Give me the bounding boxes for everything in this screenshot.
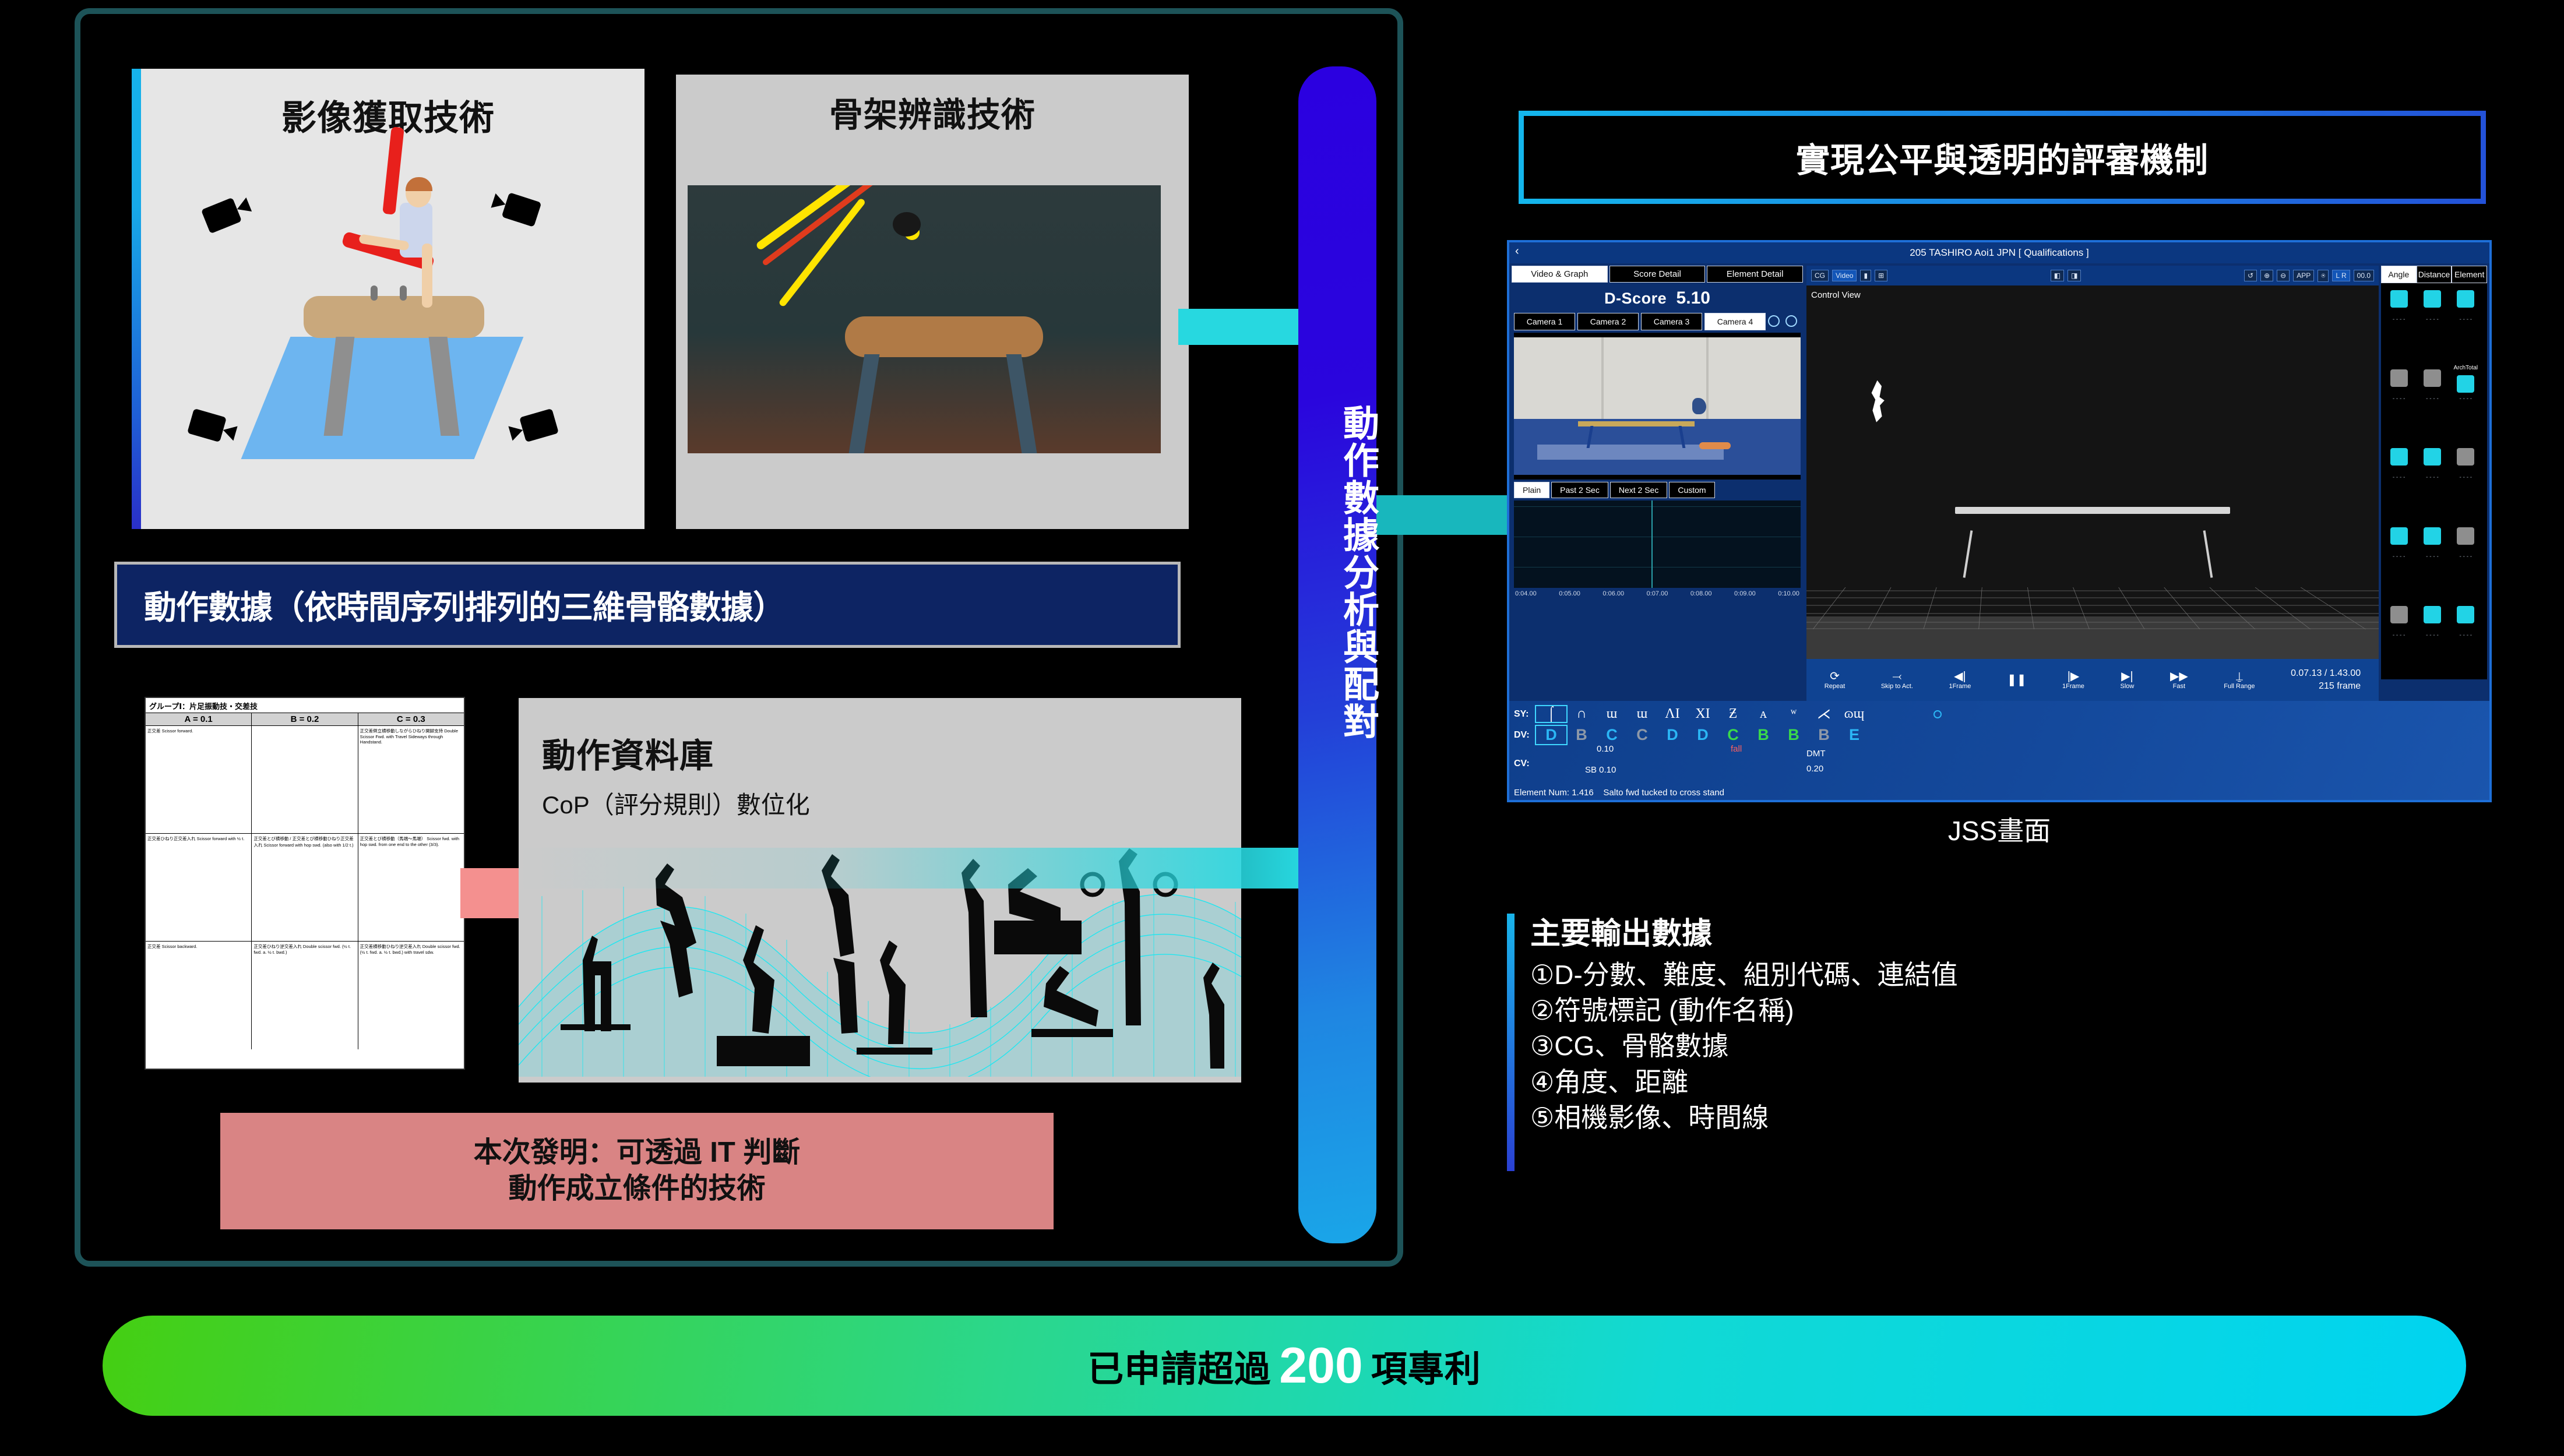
angle-cell[interactable]: - - - - (2417, 445, 2447, 482)
skip-to-act-button[interactable]: ⤙Skip to Act. (1881, 670, 1913, 690)
patent-count-banner: 已申請超過 200 項專利 (103, 1316, 2466, 1416)
timecode-readout: 0.07.13 / 1.43.00 215 frame (2291, 667, 2361, 692)
camera-icon-top-right (502, 192, 542, 227)
camera-icon-bottom-right (519, 408, 559, 442)
sy-label: SY: (1509, 709, 1536, 720)
cop-cell: 正交差とび横移動（馬端～馬端） Scissor fwd. with hop sw… (358, 834, 464, 941)
outputs-accent-bar (1507, 914, 1515, 1171)
reset-rotate-icon[interactable]: ↺ (2244, 270, 2257, 281)
cg-grid (1806, 587, 2379, 629)
arch-total-caption: ArchTotal (2450, 365, 2481, 371)
springboard (1699, 442, 1731, 449)
pommel-horse-photo (845, 316, 1043, 357)
header-pill-text: 實現公平與透明的評審機制 (1796, 133, 2209, 182)
sy-symbol[interactable]: ɷɰ (1839, 706, 1869, 722)
tick: 0:05.00 (1559, 590, 1580, 597)
repeat-button[interactable]: ⟳Repeat (1825, 670, 1845, 690)
angle-cell[interactable]: - - - - (2450, 445, 2481, 482)
d-score-display: D-Score 5.10 (1512, 283, 1803, 313)
cv-bonus: 0.10 (1597, 744, 1614, 754)
cg-beam-leg-right (2203, 531, 2213, 579)
invention-callout-box: 本次發明：可透過 IT 判斷 動作成立條件的技術 (220, 1113, 1054, 1229)
arrow-database-to-pipe (516, 848, 1303, 889)
dv-value[interactable]: B (1566, 726, 1597, 744)
patent-number: 200 (1279, 1337, 1363, 1395)
arrow-pipe-to-jss (1369, 495, 1515, 535)
cop-group-label: グループⅠ：片足振動技・交差技 (146, 698, 464, 713)
symbol-row: SY: ⌠ ∩ ɯ ɯ ɅΙ ΧΙ Ƶ ᴀ ʷ ⋌ ɷɰ (1509, 701, 2489, 722)
cop-cell: 正交差とび横移動 / 正交差とび横移動ひねり正交差入れ Scissor forw… (252, 834, 358, 941)
jss-main-tabs[interactable]: Video & Graph Score Detail Element Detai… (1512, 266, 1803, 283)
gymnast-arm-support (422, 244, 432, 308)
dv-value[interactable]: E (1839, 726, 1869, 744)
output-item: ⑤相機影像、時間線 (1530, 1100, 2381, 1136)
outputs-section: 主要輸出數據 ①D-分數、難度、組別代碼、連結值 ②符號標記 (動作名稱) ③C… (1507, 909, 2381, 1136)
sy-symbol[interactable]: ʷ (1778, 706, 1809, 722)
tab-angle[interactable]: Angle (2381, 266, 2417, 283)
camera-left-icon[interactable]: ◧ (2051, 270, 2064, 281)
cv-dmt-label: DMT (1806, 749, 1826, 759)
gymnast-hair (406, 177, 432, 191)
prev-frame-button[interactable]: ◀|1Frame (1949, 670, 1971, 690)
jss-center-column: CG Video ▮ ⊞ ◧ ◨ ↺ ⊕ ⊖ APP ⍟ L R 00.0 Co… (1806, 266, 2379, 681)
angle-cell-arch-total[interactable]: ArchTotal - - - - (2450, 366, 2481, 403)
tick: 0:10.00 (1778, 590, 1799, 597)
cg-toggle[interactable]: CG (1811, 270, 1829, 281)
cop-rulebook-table: グループⅠ：片足振動技・交差技 A = 0.1 B = 0.2 C = 0.3 … (145, 697, 465, 1070)
angle-cell[interactable]: - - - - (2450, 524, 2481, 561)
dv-value[interactable]: C (1597, 726, 1627, 744)
output-item: ②符號標記 (動作名稱) (1530, 993, 2381, 1028)
dv-value[interactable]: B (1778, 726, 1809, 744)
skeleton-overlay-yellow-2 (778, 198, 866, 308)
output-item: ①D-分數、難度、組別代碼、連結值 (1530, 957, 2381, 993)
next-frame-button[interactable]: |▶1Frame (2062, 670, 2084, 690)
cop-cell: 正交差 Scissor backward. (146, 942, 252, 1049)
arrow-capture-to-pipe (1178, 309, 1306, 345)
jss-right-tabs[interactable]: Angle Distance Element (2381, 266, 2487, 283)
tab-plain[interactable]: Plain (1514, 482, 1549, 498)
cv-dmt-value: 0.20 (1806, 764, 1823, 774)
zoom-in-icon[interactable]: ⊕ (2260, 270, 2273, 281)
cop-col-b: B = 0.2 (252, 713, 358, 725)
cop-cell: 正交差ひねり逆交差入れ Double scissor fwd. (½ t. fw… (252, 942, 358, 1049)
tick: 0:07.00 (1647, 590, 1668, 597)
sy-symbol[interactable]: Ƶ (1718, 706, 1748, 722)
tick: 0:06.00 (1602, 590, 1624, 597)
angle-cell[interactable]: - - - - (2417, 524, 2447, 561)
grid-pane-icon[interactable]: ⊞ (1875, 270, 1887, 281)
camera-tabs[interactable]: Camera 1 Camera 2 Camera 3 Camera 4 (1512, 313, 1803, 330)
gym-wall-seam (1706, 337, 1709, 425)
pause-button[interactable]: ❚❚ (2007, 674, 2027, 686)
sy-symbol[interactable]: ɅΙ (1657, 706, 1688, 722)
cop-cell: 正交差横移動ひねり逆交差入れ Double scissor fwd. (½ t.… (358, 942, 464, 1049)
jss-window-title: 205 TASHIRO Aoi1 JPN [ Qualifications ] (1910, 247, 2088, 259)
gym-mat (1537, 445, 1724, 460)
output-item: ③CG、骨骼數據 (1530, 1028, 2381, 1064)
brightness-down-icon[interactable] (1785, 315, 1797, 327)
tab-distance[interactable]: Distance (2417, 266, 2452, 283)
lr-toggle[interactable]: L R (2332, 270, 2350, 281)
jss-application-window[interactable]: ‹ 205 TASHIRO Aoi1 JPN [ Qualifications … (1507, 240, 2492, 802)
full-range-button[interactable]: ⍊Full Range (2224, 670, 2255, 690)
difficulty-row: DV: D B C C D D C B B B E (1509, 722, 2489, 744)
video-toggle[interactable]: Video (1832, 270, 1857, 281)
playhead-line[interactable] (1651, 500, 1653, 588)
tick: 0:08.00 (1690, 590, 1712, 597)
angle-measurement-grid[interactable]: - - - - - - - - - - - - - - - - - - - - … (2381, 283, 2487, 679)
timecode-value: 0.07.13 / 1.43.00 (2291, 667, 2361, 680)
cop-cell: 正交差 Scissor forward. (146, 726, 252, 833)
output-item: ④角度、距離 (1530, 1064, 2381, 1100)
tab-element[interactable]: Element (2452, 266, 2487, 283)
invention-line-2: 動作成立條件的技術 (508, 1171, 765, 1207)
single-pane-icon[interactable]: ▮ (1860, 270, 1871, 281)
jss-right-column: Angle Distance Element - - - - - - - - -… (2381, 266, 2487, 681)
dv-value[interactable]: B (1809, 726, 1839, 744)
tab-element-detail[interactable]: Element Detail (1707, 266, 1803, 283)
capture-illustration (132, 162, 644, 523)
tab-past-2-sec[interactable]: Past 2 Sec (1551, 482, 1608, 498)
camera-right-icon[interactable]: ◨ (2068, 270, 2081, 281)
dv-value[interactable]: C (1718, 726, 1748, 744)
back-icon[interactable]: ‹ (1515, 245, 1519, 258)
sy-symbol[interactable]: ⋌ (1809, 706, 1839, 722)
sy-symbol[interactable]: ɯ (1627, 706, 1657, 722)
tab-camera-2[interactable]: Camera 2 (1577, 313, 1639, 330)
pipe-label: 動作數據分析與配對 (1298, 404, 1376, 740)
gymnast-figure (324, 174, 470, 308)
jss-control-toolbar[interactable]: CG Video ▮ ⊞ ◧ ◨ ↺ ⊕ ⊖ APP ⍟ L R 00.0 (1806, 266, 2379, 285)
cg-beam-leg-left (1963, 531, 1973, 579)
dv-value[interactable]: D (1657, 726, 1688, 744)
sy-symbol[interactable]: ΧΙ (1688, 706, 1718, 722)
cop-col-c: C = 0.3 (358, 713, 464, 725)
tick: 0:04.00 (1515, 590, 1537, 597)
element-num: Element Num: 1.416 (1514, 788, 1594, 798)
horse-leg-photo-right (1006, 354, 1037, 453)
sy-symbol[interactable]: ɯ (1597, 706, 1627, 722)
cg-athlete-model (1869, 380, 1887, 422)
cv-fall: fall (1731, 744, 1742, 754)
slow-button[interactable]: ▶|Slow (2121, 670, 2135, 690)
zoom-readout: 00.0 (2354, 270, 2374, 281)
d-score-value: 5.10 (1677, 288, 1710, 308)
cop-cell: 正交差ひねり正交差入れ Scissor forward with ½ t. (146, 834, 252, 941)
athlete-in-air (1692, 398, 1706, 414)
cv-label: CV: (1509, 759, 1536, 769)
tick: 0:09.00 (1734, 590, 1756, 597)
element-name: Salto fwd tucked to cross stand (1603, 788, 1724, 798)
athlete-head-photo (893, 212, 921, 237)
gym-wall-seam (1601, 337, 1604, 425)
motion-data-banner: 動作數據（依時間序列排列的三維骨骼數據） (114, 562, 1181, 648)
control-view-3d[interactable]: Control View (1806, 285, 2379, 681)
camera-icon-bottom-left (187, 408, 227, 442)
card-motion-database: 動作資料庫 CoP（評分規則）數位化 (519, 698, 1241, 1083)
skeleton-card-title: 骨架辨識技術 (676, 75, 1189, 136)
tab-custom[interactable]: Custom (1669, 482, 1714, 498)
angle-cell[interactable]: - - - - (2383, 524, 2414, 561)
camera-icon-top-left (201, 198, 242, 234)
d-score-label: D-Score (1604, 290, 1667, 307)
element-info: Element Num: 1.416 Salto fwd tucked to c… (1514, 788, 1724, 798)
angle-cell[interactable]: - - - - (2383, 287, 2414, 324)
dv-value[interactable]: D (1688, 726, 1718, 744)
camera-video-view[interactable] (1514, 333, 1801, 480)
motion-data-banner-text: 動作數據（依時間序列排列的三維骨骼數據） (117, 581, 785, 629)
jss-caption: JSS畫面 (1507, 810, 2492, 848)
header-pill: 實現公平與透明的評審機制 (1519, 111, 2486, 204)
invention-line-1: 本次發明：可透過 IT 判斷 (474, 1135, 801, 1171)
jss-symbol-panel: SY: ⌠ ∩ ɯ ɯ ɅΙ ΧΙ Ƶ ᴀ ʷ ⋌ ɷɰ DV: D B C C… (1509, 701, 2489, 800)
sy-symbol[interactable]: ⌠ (1536, 706, 1566, 722)
app-toggle[interactable]: APP (2293, 270, 2314, 281)
angle-cell[interactable]: - - - - (2417, 287, 2447, 324)
angle-cell[interactable]: - - - - (2383, 366, 2414, 403)
dv-value[interactable]: D (1536, 726, 1566, 744)
cop-cell (252, 726, 358, 833)
control-view-label: Control View (1811, 290, 1861, 300)
body-model-icon[interactable]: ⍟ (2318, 270, 2329, 282)
analysis-pipe: 動作數據分析與配對 (1298, 66, 1376, 1243)
tab-camera-3[interactable]: Camera 3 (1641, 313, 1702, 330)
connection-value-row: CV: 0.10 fall SB 0.10 DMT 0.20 (1509, 744, 2489, 780)
card-skeleton-recognition: 骨架辨識技術 (676, 75, 1189, 529)
dv-value[interactable]: B (1748, 726, 1778, 744)
angle-cell[interactable]: - - - - (2417, 602, 2447, 640)
timeline-ticks: 0:04.00 0:05.00 0:06.00 0:07.00 0:08.00 … (1512, 590, 1803, 597)
cop-col-a: A = 0.1 (146, 713, 252, 725)
jss-left-column: Video & Graph Score Detail Element Detai… (1512, 266, 1803, 681)
tab-next-2-sec[interactable]: Next 2 Sec (1610, 482, 1667, 498)
sy-symbol[interactable]: ᴀ (1748, 706, 1778, 722)
pink-arrow (460, 868, 524, 918)
tab-camera-1[interactable]: Camera 1 (1514, 313, 1575, 330)
angle-cell[interactable]: - - - - (2383, 445, 2414, 482)
card-image-acquisition: 影像獲取技術 (132, 69, 644, 529)
gym-wall (1514, 337, 1801, 425)
frame-count: 215 frame (2291, 680, 2361, 693)
database-title: 動作資料庫 (519, 698, 1241, 777)
angle-cell[interactable]: - - - - (2450, 602, 2481, 640)
patent-prefix: 已申請超過 (1087, 1339, 1271, 1392)
capture-card-title: 影像獲取技術 (132, 69, 644, 140)
cursor-icon (1933, 710, 1942, 718)
tab-score-detail[interactable]: Score Detail (1609, 266, 1706, 283)
angle-cell[interactable]: - - - - (2383, 602, 2414, 640)
zoom-out-icon[interactable]: ⊖ (2277, 270, 2290, 281)
horse-leg-photo-left (849, 354, 880, 453)
balance-beam (1578, 421, 1695, 426)
dv-label: DV: (1509, 730, 1536, 741)
patent-suffix: 項專利 (1371, 1339, 1481, 1392)
cv-sb: SB 0.10 (1585, 765, 1616, 775)
jss-titlebar: ‹ 205 TASHIRO Aoi1 JPN [ Qualifications … (1509, 242, 2489, 263)
cg-balance-beam (1955, 507, 2230, 514)
angle-cell[interactable]: - - - - (2450, 287, 2481, 324)
dv-value[interactable]: C (1627, 726, 1657, 744)
skeleton-video-thumbnail (688, 185, 1161, 453)
outputs-heading: 主要輸出數據 (1530, 909, 2381, 953)
tab-video-graph[interactable]: Video & Graph (1512, 266, 1608, 283)
timeline-graph[interactable] (1514, 500, 1801, 588)
mat-shape (241, 337, 524, 459)
cop-cell: 正交差倒立横移動しながらひねり開脚支持 Double Scissor Fwd. … (358, 726, 464, 833)
graph-tabs[interactable]: Plain Past 2 Sec Next 2 Sec Custom (1512, 482, 1803, 498)
angle-cell[interactable]: - - - - (2417, 366, 2447, 403)
jss-player-controls[interactable]: ⟳Repeat ⤙Skip to Act. ◀|1Frame ❚❚ |▶1Fra… (1806, 659, 2379, 701)
sy-symbol[interactable]: ∩ (1566, 706, 1597, 722)
tab-camera-4[interactable]: Camera 4 (1704, 313, 1766, 330)
fast-button[interactable]: ▶▶Fast (2170, 670, 2188, 690)
brightness-up-icon[interactable] (1768, 315, 1780, 327)
